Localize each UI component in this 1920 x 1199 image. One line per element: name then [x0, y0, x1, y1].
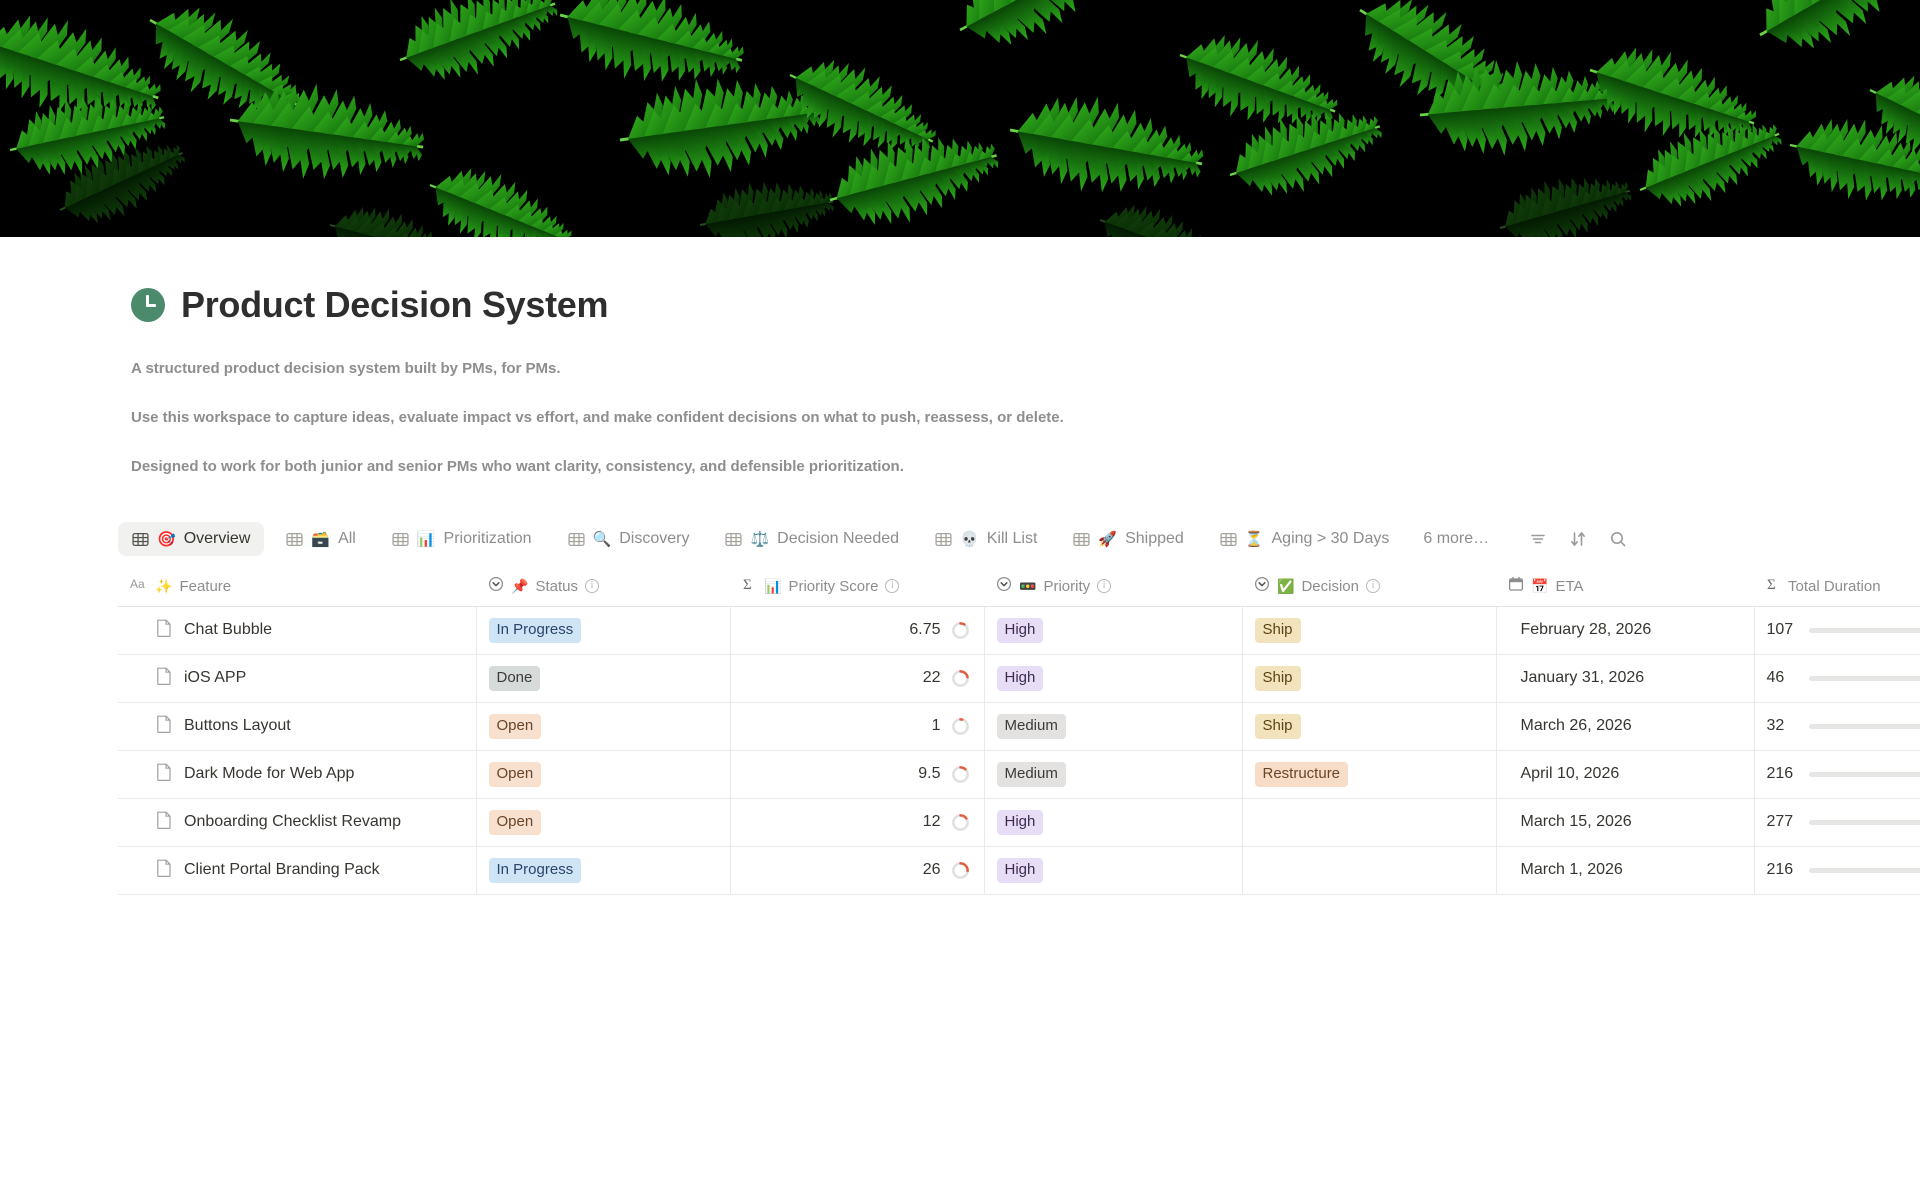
table-view-icon — [1220, 531, 1237, 548]
status-badge: In Progress — [489, 858, 582, 883]
duration-bar — [1809, 772, 1920, 777]
status-badge: Open — [489, 714, 542, 739]
feature-title: Buttons Layout — [184, 717, 291, 735]
duration-value: 216 — [1767, 861, 1797, 879]
page-document-icon — [156, 667, 172, 690]
cell-decision[interactable]: Restructure — [1242, 750, 1496, 798]
feature-title: Client Portal Branding Pack — [184, 861, 380, 879]
description-paragraph: A structured product decision system bui… — [131, 357, 1091, 380]
table-view-icon — [568, 531, 585, 548]
table-view-icon — [286, 531, 303, 548]
table-view-icon — [392, 531, 409, 548]
cell-eta[interactable]: March 1, 2026 — [1496, 846, 1754, 894]
cell-priority-score[interactable]: 26 — [730, 846, 984, 894]
cell-decision[interactable]: Ship — [1242, 702, 1496, 750]
tab-shipped[interactable]: 🚀 Shipped — [1059, 522, 1197, 556]
svg-text:Σ: Σ — [743, 577, 752, 592]
duration-value: 216 — [1767, 765, 1797, 783]
cell-feature[interactable]: Onboarding Checklist Revamp — [118, 798, 476, 846]
cell-priority-score[interactable]: 9.5 — [730, 750, 984, 798]
page-document-icon — [156, 715, 172, 738]
column-label: Priority Score — [788, 578, 878, 595]
column-label: Priority — [1043, 578, 1090, 595]
select-icon — [488, 576, 504, 596]
cell-eta[interactable]: March 15, 2026 — [1496, 798, 1754, 846]
table-row[interactable]: Client Portal Branding Pack In Progress … — [118, 846, 1920, 894]
tab-label: Shipped — [1125, 530, 1184, 548]
priority-badge: Medium — [997, 762, 1066, 787]
description-paragraph: Use this workspace to capture ideas, eva… — [131, 406, 1091, 429]
eta-date: March 1, 2026 — [1509, 861, 1623, 879]
table-header-row: Aa ✨ Feature — [118, 566, 1920, 606]
priority-badge: High — [997, 666, 1044, 691]
table-row[interactable]: iOS APP Done 22 — [118, 654, 1920, 702]
priority-badge: High — [997, 618, 1044, 643]
column-label: ETA — [1555, 578, 1583, 595]
decision-badge: Ship — [1255, 666, 1301, 691]
priority-score-value: 12 — [923, 813, 941, 831]
tab-label: All — [338, 530, 356, 548]
info-icon[interactable]: i — [885, 579, 899, 593]
tab-discovery[interactable]: 🔍 Discovery — [554, 522, 704, 556]
tab-label: Kill List — [987, 530, 1038, 548]
cell-feature[interactable]: Client Portal Branding Pack — [118, 846, 476, 894]
duration-bar — [1809, 820, 1920, 825]
column-label: Status — [535, 578, 578, 595]
info-icon[interactable]: i — [1097, 579, 1111, 593]
table-view-icon — [1073, 531, 1090, 548]
fern-leaves-graphic — [0, 0, 1920, 237]
column-label: Feature — [179, 578, 231, 595]
feature-title: iOS APP — [184, 669, 246, 687]
cell-eta[interactable]: January 31, 2026 — [1496, 654, 1754, 702]
tab-kill-list[interactable]: 💀 Kill List — [921, 522, 1051, 556]
duration-bar — [1809, 628, 1920, 633]
cell-priority-score[interactable]: 12 — [730, 798, 984, 846]
status-badge: Done — [489, 666, 541, 691]
cell-feature[interactable]: iOS APP — [118, 654, 476, 702]
duration-bar — [1809, 724, 1920, 729]
cell-priority[interactable]: High — [984, 798, 1242, 846]
tab-label: Decision Needed — [777, 530, 899, 548]
duration-value: 32 — [1767, 717, 1797, 735]
sparkles-icon: ✨ — [155, 578, 172, 595]
priority-score-value: 9.5 — [918, 765, 940, 783]
feature-title: Onboarding Checklist Revamp — [184, 813, 401, 831]
cell-total-duration[interactable]: 46 — [1754, 654, 1920, 702]
cell-eta[interactable]: March 26, 2026 — [1496, 702, 1754, 750]
priority-score-value: 6.75 — [909, 621, 940, 639]
duration-bar — [1809, 676, 1920, 681]
page-title-row: Product Decision System — [131, 285, 1920, 325]
priority-score-value: 1 — [932, 717, 941, 735]
decision-badge: Ship — [1255, 714, 1301, 739]
rocket-icon: 🚀 — [1098, 532, 1117, 547]
search-icon[interactable] — [1609, 530, 1627, 548]
database-table: Aa ✨ Feature — [118, 566, 1920, 895]
cell-eta[interactable]: April 10, 2026 — [1496, 750, 1754, 798]
page-cover-banner — [0, 0, 1920, 237]
priority-badge: High — [997, 858, 1044, 883]
tab-prioritization[interactable]: 📊 Prioritization — [378, 522, 546, 556]
database-view-tabs: 🎯 Overview 🗃️ All 📊 Priorit — [118, 518, 1858, 560]
column-header-decision[interactable]: ✅ Decision i — [1242, 566, 1496, 606]
duration-value: 46 — [1767, 669, 1797, 687]
eta-date: April 10, 2026 — [1509, 765, 1620, 783]
cell-priority-score[interactable]: 6.75 — [730, 606, 984, 654]
column-header-eta[interactable]: 📅 ETA — [1496, 566, 1754, 606]
balance-scale-icon: ⚖️ — [750, 532, 769, 547]
feature-title: Dark Mode for Web App — [184, 765, 354, 783]
more-views-button[interactable]: 6 more… — [1411, 530, 1501, 548]
table-view-icon — [132, 531, 149, 548]
cell-eta[interactable]: February 28, 2026 — [1496, 606, 1754, 654]
cell-decision[interactable]: Ship — [1242, 606, 1496, 654]
formula-sigma-icon: Σ — [742, 576, 757, 596]
target-icon: 🎯 — [157, 532, 176, 547]
tab-overview[interactable]: 🎯 Overview — [118, 522, 264, 556]
progress-ring-icon — [951, 765, 970, 784]
cell-feature[interactable]: Buttons Layout — [118, 702, 476, 750]
formula-sigma-icon: Σ — [1766, 576, 1781, 596]
duration-value: 277 — [1767, 813, 1797, 831]
decision-badge: Restructure — [1255, 762, 1349, 787]
page-description: A structured product decision system bui… — [131, 357, 1091, 479]
tab-label: Overview — [184, 530, 251, 548]
calendar-emoji-icon: 📅 — [1531, 578, 1548, 595]
svg-text:Σ: Σ — [1767, 577, 1776, 592]
tab-aging-30-days[interactable]: ⏳ Aging > 30 Days — [1206, 522, 1404, 556]
decision-badge: Ship — [1255, 618, 1301, 643]
progress-ring-icon — [951, 813, 970, 832]
duration-bar — [1809, 868, 1920, 873]
sort-icon[interactable] — [1569, 530, 1587, 548]
cell-priority[interactable]: Medium — [984, 702, 1242, 750]
page-title[interactable]: Product Decision System — [181, 285, 608, 325]
eta-date: March 15, 2026 — [1509, 813, 1632, 831]
cell-priority-score[interactable]: 1 — [730, 702, 984, 750]
eta-date: February 28, 2026 — [1509, 621, 1652, 639]
card-box-icon: 🗃️ — [311, 532, 330, 547]
cell-status[interactable]: Done — [476, 654, 730, 702]
cell-priority[interactable]: High — [984, 606, 1242, 654]
magnifier-icon: 🔍 — [593, 532, 612, 547]
table-row[interactable]: Buttons Layout Open 1 — [118, 702, 1920, 750]
column-header-priority-score[interactable]: Σ 📊 Priority Score i — [730, 566, 984, 606]
cell-total-duration[interactable]: 216 — [1754, 846, 1920, 894]
cell-status[interactable]: Open — [476, 798, 730, 846]
table-body: Chat Bubble In Progress 6.75 — [118, 606, 1920, 894]
table-view-icon — [725, 531, 742, 548]
pushpin-icon: 📌 — [511, 578, 528, 595]
tab-label: Discovery — [619, 530, 689, 548]
calendar-icon — [1508, 576, 1524, 596]
description-paragraph: Designed to work for both junior and sen… — [131, 455, 1091, 478]
clock-icon[interactable] — [131, 288, 165, 322]
eta-date: January 31, 2026 — [1509, 669, 1645, 687]
feature-title: Chat Bubble — [184, 621, 272, 639]
cell-feature[interactable]: Dark Mode for Web App — [118, 750, 476, 798]
hourglass-icon: ⏳ — [1245, 532, 1264, 547]
bar-chart-icon: 📊 — [417, 532, 436, 547]
page-document-icon — [156, 619, 172, 642]
cell-priority[interactable]: Medium — [984, 750, 1242, 798]
select-icon — [1254, 576, 1270, 596]
progress-ring-icon — [951, 669, 970, 688]
cell-status[interactable]: Open — [476, 702, 730, 750]
cell-total-duration[interactable]: 216 — [1754, 750, 1920, 798]
priority-badge: Medium — [997, 714, 1066, 739]
info-icon[interactable]: i — [1366, 579, 1380, 593]
cell-feature[interactable]: Chat Bubble — [118, 606, 476, 654]
cell-status[interactable]: Open — [476, 750, 730, 798]
tab-decision-needed[interactable]: ⚖️ Decision Needed — [711, 522, 913, 556]
bar-chart-icon: 📊 — [764, 578, 781, 595]
skull-icon: 💀 — [960, 532, 979, 547]
page-content: Product Decision System A structured pro… — [0, 285, 1920, 895]
page-document-icon — [156, 811, 172, 834]
column-header-total-duration[interactable]: Σ Total Duration — [1754, 566, 1920, 606]
cell-total-duration[interactable]: 107 — [1754, 606, 1920, 654]
progress-ring-icon — [951, 621, 970, 640]
cell-total-duration[interactable]: 32 — [1754, 702, 1920, 750]
priority-badge: High — [997, 810, 1044, 835]
column-header-priority[interactable]: 🚥 Priority i — [984, 566, 1242, 606]
svg-text:Aa: Aa — [130, 577, 145, 591]
cell-status[interactable]: In Progress — [476, 606, 730, 654]
duration-value: 107 — [1767, 621, 1797, 639]
table-view-icon — [935, 531, 952, 548]
table-row[interactable]: Dark Mode for Web App Open 9.5 — [118, 750, 1920, 798]
cell-decision[interactable] — [1242, 798, 1496, 846]
traffic-light-icon: 🚥 — [1019, 578, 1036, 595]
page-document-icon — [156, 859, 172, 882]
column-label: Total Duration — [1788, 578, 1881, 595]
column-header-feature[interactable]: Aa ✨ Feature — [118, 566, 476, 606]
select-icon — [996, 576, 1012, 596]
progress-ring-icon — [951, 861, 970, 880]
tab-label: Prioritization — [444, 530, 532, 548]
text-aa-icon: Aa — [130, 577, 148, 595]
column-header-status[interactable]: 📌 Status i — [476, 566, 730, 606]
database-table-wrapper: Aa ✨ Feature — [118, 566, 1920, 895]
cell-decision[interactable]: Ship — [1242, 654, 1496, 702]
cell-total-duration[interactable]: 277 — [1754, 798, 1920, 846]
view-toolbar — [1529, 530, 1627, 548]
table-row[interactable]: Onboarding Checklist Revamp Open 12 — [118, 798, 1920, 846]
cell-status[interactable]: In Progress — [476, 846, 730, 894]
progress-ring-icon — [951, 717, 970, 736]
cell-decision[interactable] — [1242, 846, 1496, 894]
cell-priority[interactable]: High — [984, 846, 1242, 894]
status-badge: In Progress — [489, 618, 582, 643]
status-badge: Open — [489, 762, 542, 787]
column-label: Decision — [1301, 578, 1359, 595]
check-mark-icon: ✅ — [1277, 578, 1294, 595]
cell-priority-score[interactable]: 22 — [730, 654, 984, 702]
status-badge: Open — [489, 810, 542, 835]
info-icon[interactable]: i — [585, 579, 599, 593]
tab-label: Aging > 30 Days — [1272, 530, 1390, 548]
priority-score-value: 22 — [923, 669, 941, 687]
eta-date: March 26, 2026 — [1509, 717, 1632, 735]
page-document-icon — [156, 763, 172, 786]
table-row[interactable]: Chat Bubble In Progress 6.75 — [118, 606, 1920, 654]
priority-score-value: 26 — [923, 861, 941, 879]
tab-all[interactable]: 🗃️ All — [272, 522, 369, 556]
filter-icon[interactable] — [1529, 530, 1547, 548]
cell-priority[interactable]: High — [984, 654, 1242, 702]
